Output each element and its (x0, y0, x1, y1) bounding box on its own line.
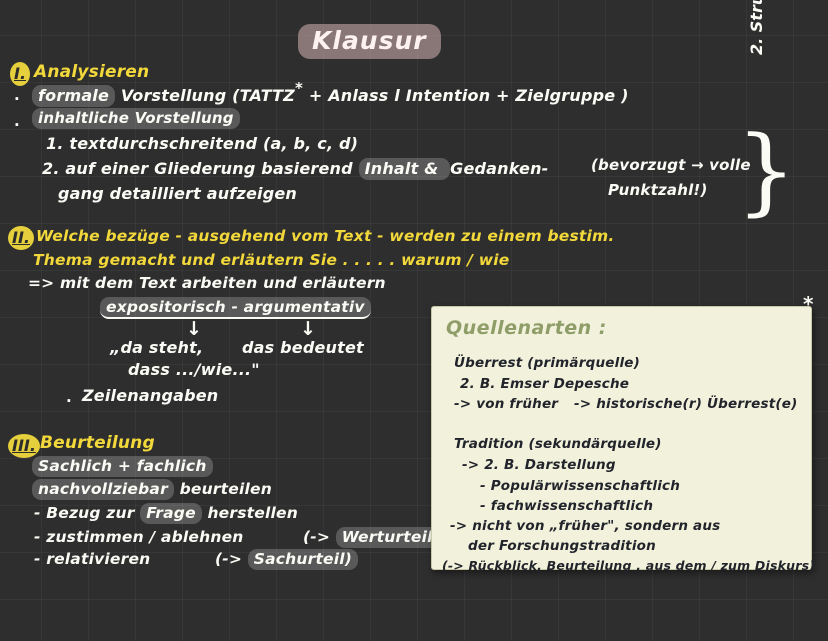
curly-brace: } (736, 128, 758, 220)
section-1-heading: Analysieren (34, 64, 149, 82)
section-3-item-2-note-open: (-> (303, 528, 330, 546)
section-2-numeral: II. (8, 228, 34, 247)
section-3-item-2-note: (-> Werturteil) (303, 529, 446, 545)
quellenarten-card: Quellenarten : Überrest (primärquelle) 2… (431, 306, 812, 570)
section-2-bullet-zeilenangaben: Zeilenangaben (82, 388, 218, 405)
highlight-sachlich-fachlich: Sachlich + fachlich (32, 456, 213, 477)
highlight-werturteil: Werturteil) (336, 527, 446, 548)
quellen-group-1-arrow-1: -> von früher (454, 397, 558, 411)
quellen-group-1-title: Überrest (primärquelle) (454, 356, 640, 370)
section-1-numeral: I. (10, 64, 30, 83)
bullet-dot-zeilenangaben: · (66, 392, 72, 410)
section-1-bullet-1-rest: Vorstellung (121, 86, 227, 105)
arrow-down-1: ↓ (186, 318, 202, 340)
page-title: Klausur (298, 28, 441, 54)
highlight-inhaltliche: inhaltliche Vorstellung (32, 108, 240, 129)
section-1-bullet-1-tail: + Anlass l Intention + Zielgruppe ) (309, 86, 629, 105)
asterisk-tattz: * (295, 79, 303, 97)
quellen-group-2-sub-1: - Populärwissenschaftlich (480, 479, 680, 493)
section-3-item-3-note-open: (-> (215, 550, 242, 568)
section-3-item-1-b: herstellen (207, 504, 298, 522)
section-3-item-3: - relativieren (34, 551, 150, 567)
quote-2: das bedeutet (242, 340, 364, 357)
section-1-item-1: 1. textdurchschreitend (a, b, c, d) (46, 136, 358, 153)
quellenarten-title: Quellenarten : (446, 319, 607, 339)
section-3-item-1: - Bezug zur Frage herstellen (34, 505, 298, 521)
section-2-line-3: => mit dem Text arbeiten und erläutern (28, 275, 386, 291)
section-3-item-2: - zustimmen / ablehnen (34, 529, 244, 545)
quellen-group-2-arrow-2b: der Forschungstradition (468, 539, 656, 553)
quote-1-line-2: dass .../wie..." (128, 362, 260, 379)
section-1-item-2-a: 2. auf einer Gliederung basierend (42, 159, 353, 178)
note-bevorzugt-line-2: Punktzahl!) (608, 183, 708, 199)
bullet-dot-inhaltliche: · (14, 116, 20, 134)
section-3-line-1: Sachlich + fachlich (32, 458, 213, 474)
section-1-bullet-2: inhaltliche Vorstellung (32, 111, 240, 127)
section-3-numeral: III. (8, 436, 40, 455)
section-3-item-1-a: - Bezug zur (34, 504, 135, 522)
highlight-nachvollziebar: nachvollziebar (32, 479, 174, 500)
arrow-down-2: ↓ (300, 318, 316, 340)
quellen-group-2-title: Tradition (sekundärquelle) (454, 437, 662, 451)
section-1-item-2-b: Gedanken- (450, 159, 548, 178)
highlight-frage: Frage (140, 503, 202, 524)
section-2-line-1: Welche bezüge - ausgehend vom Text - wer… (36, 228, 614, 244)
section-1-item-2: 2. auf einer Gliederung basierend Inhalt… (42, 161, 549, 178)
highlight-formale: formale (32, 85, 115, 107)
note-bevorzugt-line-1: (bevorzugt → volle (591, 158, 751, 174)
quellen-group-1-example: 2. B. Emser Depesche (460, 377, 629, 391)
highlight-inhalt-und: Inhalt & (359, 158, 451, 180)
page-title-text: Klausur (298, 24, 441, 59)
notes-page: Klausur I. Analysieren · formale Vorstel… (0, 0, 828, 641)
section-1-bullet-1-paren: (TATTZ (232, 86, 295, 105)
section-3-heading: Beurteilung (40, 435, 155, 453)
quellen-footer: (-> Rückblick, Beurteilung , aus dem / z… (442, 559, 815, 572)
highlight-expositorisch: expositorisch - argumentativ (100, 297, 371, 319)
quellen-group-1-arrow-2: -> historische(r) Überrest(e) (574, 397, 797, 411)
quellen-group-2-sub-2: - fachwissenschaftlich (480, 499, 653, 513)
section-3-line-2-rest: beurteilen (180, 480, 272, 498)
section-2-line-2: Thema gemacht und erläutern Sie . . . . … (33, 252, 510, 268)
section-3-line-2: nachvollziebar beurteilen (32, 481, 272, 497)
quellen-group-2-arrow-1: -> 2. B. Darstellung (462, 458, 616, 472)
bullet-dot-formale: · (14, 90, 20, 108)
section-3-item-3-note: (-> Sachurteil) (215, 551, 358, 567)
section-1-item-2-cont: gang detailliert aufzeigen (58, 186, 297, 203)
quote-1-line-1: „da steht, (110, 340, 203, 357)
section-1-bullet-1: formale Vorstellung (TATTZ* + Anlass l I… (32, 88, 629, 105)
quellen-group-2-arrow-2: -> nicht von „früher", sondern aus (450, 519, 720, 533)
section-2-keyword: expositorisch - argumentativ (100, 299, 371, 315)
vertical-note-strukturmoeglichkeiten: 2. Strukturmöglichkeiten (747, 0, 766, 55)
highlight-sachurteil: Sachurteil) (248, 549, 358, 570)
